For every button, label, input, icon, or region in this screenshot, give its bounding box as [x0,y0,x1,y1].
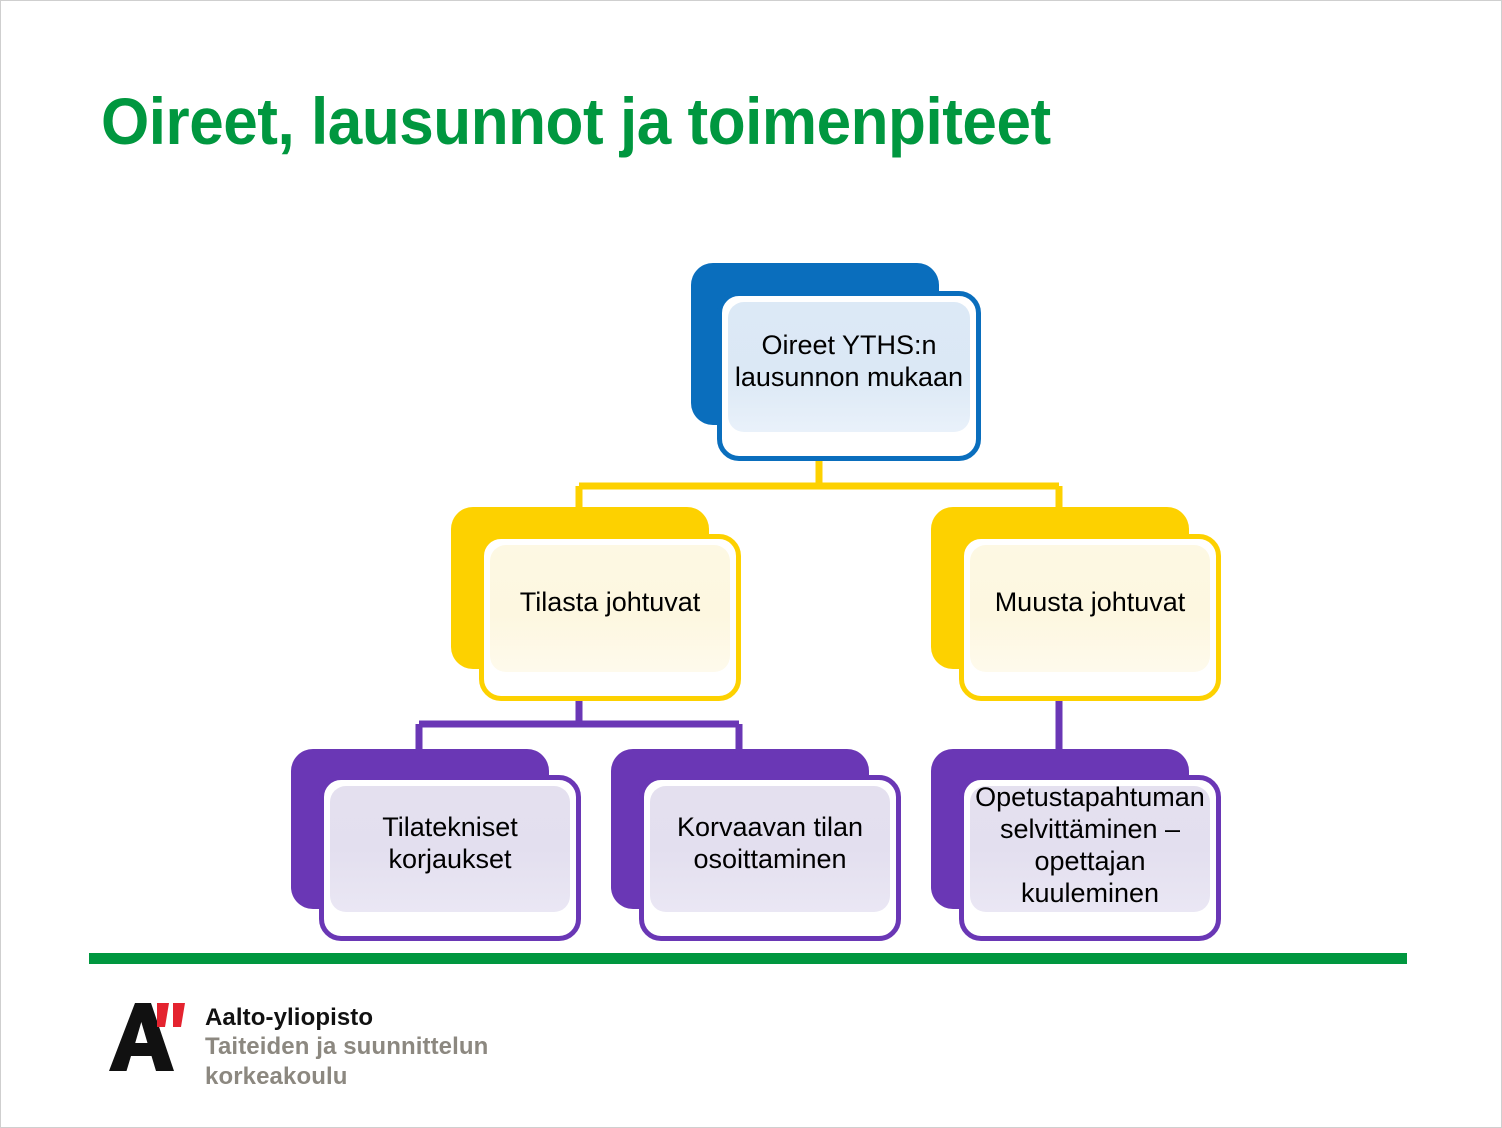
node-korvaavan-tilan-osoittaminen[interactable]: Korvaavan tilan osoittaminen [611,749,901,941]
footer-divider [89,953,1407,964]
node-card: Oireet YTHS:n lausunnon mukaan [717,291,981,461]
node-tilasta-johtuvat[interactable]: Tilasta johtuvat [451,507,741,701]
aalto-a-mark [101,1001,193,1073]
node-card: Korvaavan tilan osoittaminen [639,775,901,941]
logo-line-1: Aalto-yliopisto [205,1003,488,1032]
node-card: Opetustapahtuman selvittäminen – opettaj… [959,775,1221,941]
logo-line-2: Taiteiden ja suunnittelun [205,1032,488,1061]
aalto-wordmark: Aalto-yliopisto Taiteiden ja suunnittelu… [205,1003,488,1091]
node-card: Muusta johtuvat [959,534,1221,701]
node-label: Oireet YTHS:n lausunnon mukaan [722,296,976,428]
slide: Oireet, lausunnot ja toimenpiteet Oireet… [0,0,1502,1128]
node-tilatekniset-korjaukset[interactable]: Tilatekniset korjaukset [291,749,581,941]
node-muusta-johtuvat[interactable]: Muusta johtuvat [931,507,1221,701]
node-label: Korvaavan tilan osoittaminen [644,780,896,908]
node-label: Opetustapahtuman selvittäminen – opettaj… [964,780,1216,912]
aalto-logo: Aalto-yliopisto Taiteiden ja suunnittelu… [101,1001,521,1091]
node-opetustapahtuman-selvittaminen[interactable]: Opetustapahtuman selvittäminen – opettaj… [931,749,1221,941]
node-card: Tilasta johtuvat [479,534,741,701]
node-label: Tilatekniset korjaukset [324,780,576,908]
node-card: Tilatekniset korjaukset [319,775,581,941]
node-label: Tilasta johtuvat [484,539,736,666]
node-label: Muusta johtuvat [964,539,1216,666]
logo-line-3: korkeakoulu [205,1062,488,1091]
node-oireet-yths[interactable]: Oireet YTHS:n lausunnon mukaan [691,263,981,461]
